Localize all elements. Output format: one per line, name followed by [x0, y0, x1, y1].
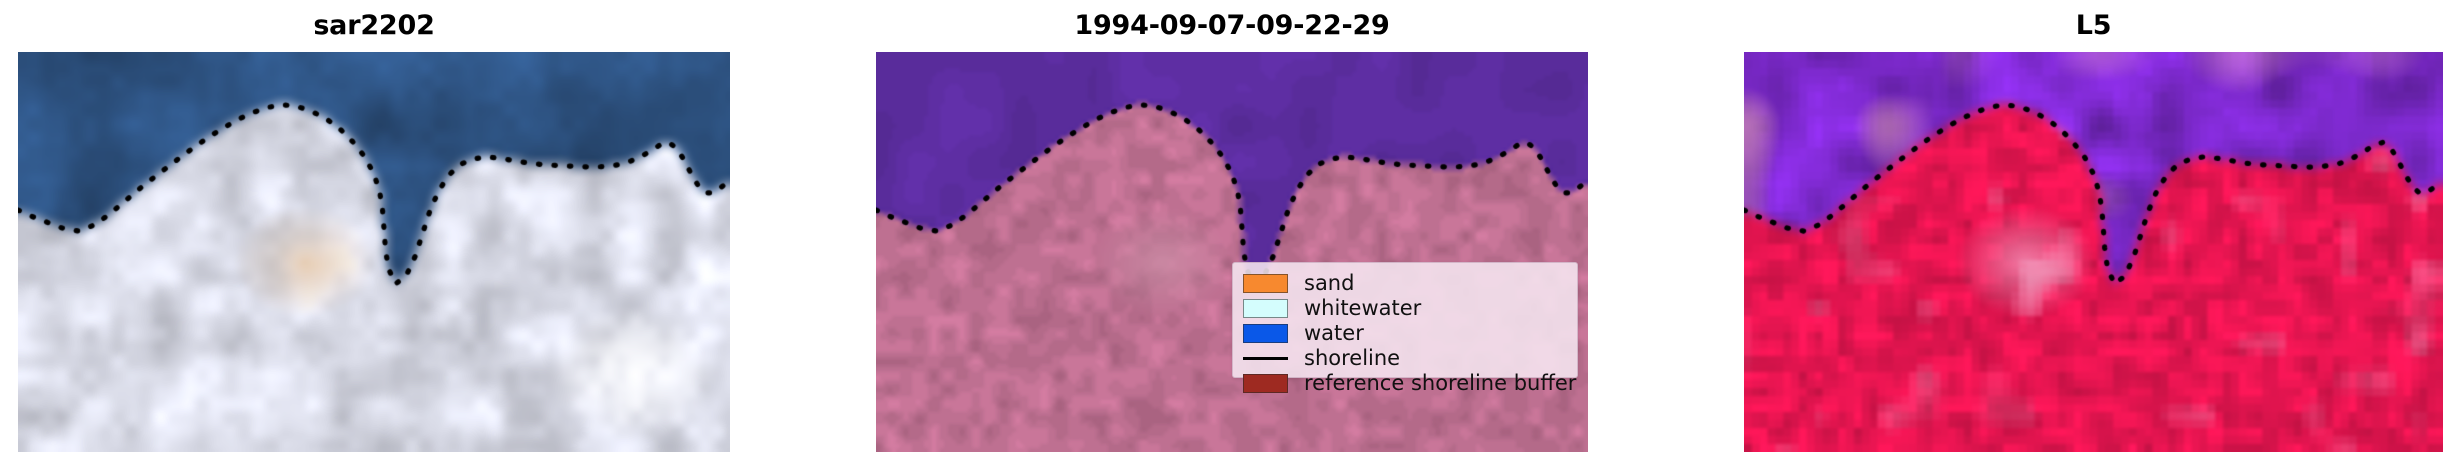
panel-title-l5: L5	[1744, 6, 2443, 46]
legend-row: reference shoreline buffer	[1243, 371, 1565, 396]
legend-row: water	[1243, 321, 1565, 346]
panel-title-sar2202: sar2202	[18, 6, 730, 46]
legend-label: reference shoreline buffer	[1304, 371, 1576, 396]
legend-label: water	[1304, 321, 1364, 346]
panel-l5	[1744, 52, 2443, 452]
legend-row: sand	[1243, 271, 1565, 296]
raster-canvas	[1744, 52, 2443, 452]
legend: sandwhitewaterwatershorelinereference sh…	[1232, 262, 1578, 378]
raster-sar2202	[18, 52, 730, 452]
legend-swatch-water	[1243, 324, 1288, 343]
legend-row: shoreline	[1243, 346, 1565, 371]
legend-label: shoreline	[1304, 346, 1400, 371]
legend-swatch-whitewater	[1243, 299, 1288, 318]
figure-root: sar2202 1994-09-07-09-22-29 L5 sandwhite…	[0, 0, 2460, 465]
panel-title-classified: 1994-09-07-09-22-29	[876, 6, 1588, 46]
raster-canvas	[18, 52, 730, 452]
legend-label: whitewater	[1304, 296, 1421, 321]
raster-l5	[1744, 52, 2443, 452]
legend-row: whitewater	[1243, 296, 1565, 321]
panel-sar2202	[18, 52, 730, 452]
legend-swatch-shoreline	[1243, 357, 1288, 360]
legend-swatch-sand	[1243, 274, 1288, 293]
legend-label: sand	[1304, 271, 1354, 296]
legend-swatch-reference-shoreline-buffer	[1243, 374, 1288, 393]
